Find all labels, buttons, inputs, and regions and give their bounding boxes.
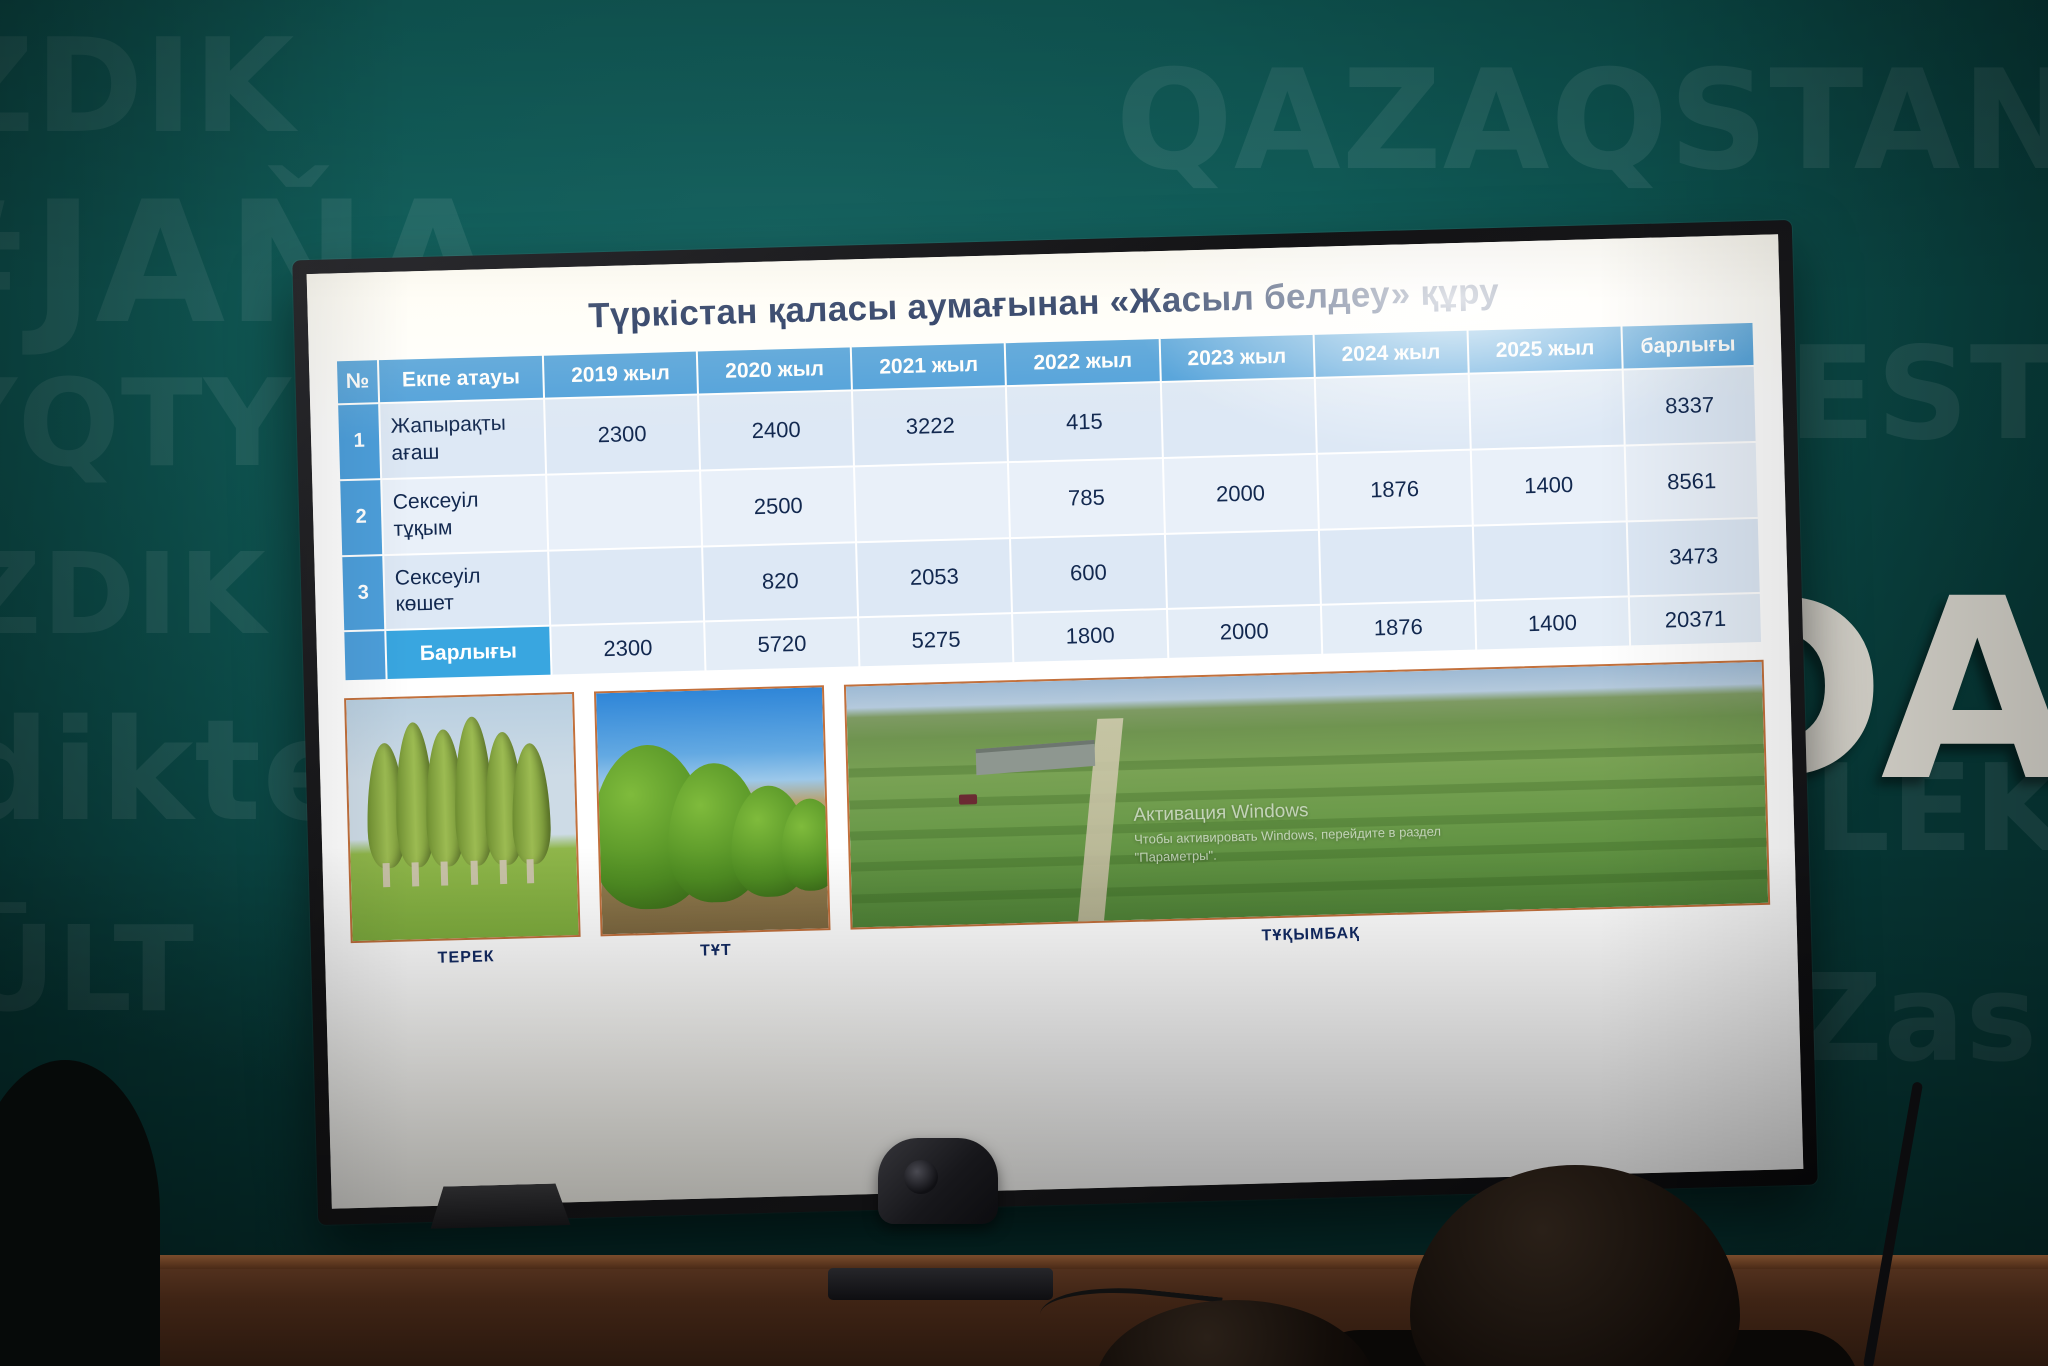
- cell-2022: 415: [1006, 382, 1162, 462]
- column-header-2021: 2021 жыл: [851, 342, 1006, 390]
- cell-2022: 600: [1010, 533, 1166, 613]
- photo-frame: Активация Windows Чтобы активировать Win…: [844, 660, 1770, 930]
- total-2024: 1876: [1321, 601, 1476, 655]
- column-header-2022: 2022 жыл: [1005, 338, 1160, 386]
- backdrop-word: ŪLT: [0, 900, 195, 1038]
- backdrop-word: ZDIK: [0, 10, 295, 162]
- total-row-label: Барлығы: [385, 626, 551, 680]
- total-2025: 1400: [1475, 597, 1630, 651]
- cell-2019: [546, 470, 702, 550]
- column-header-2023: 2023 жыл: [1159, 334, 1314, 382]
- table-edge: [0, 1255, 2048, 1269]
- column-header-no: №: [336, 359, 379, 404]
- tv-screen: Түркістан қаласы аумағынан «Жасыл белдеу…: [307, 234, 1804, 1208]
- cell-total: 3473: [1627, 517, 1761, 596]
- photo-cell-tut: ТҰТ: [594, 685, 831, 963]
- cell-2021: 2053: [856, 538, 1012, 618]
- cell-2023: 2000: [1162, 454, 1318, 534]
- row-index: 3: [341, 555, 385, 632]
- grand-total: 20371: [1629, 593, 1762, 647]
- total-2022: 1800: [1012, 609, 1167, 663]
- camera-base: [828, 1268, 1053, 1300]
- column-header-2025: 2025 жыл: [1467, 326, 1622, 374]
- cell-2021: [854, 462, 1010, 542]
- photo-cell-tuqymbaq: Активация Windows Чтобы активировать Win…: [844, 660, 1771, 957]
- total-2020: 5720: [704, 618, 859, 672]
- total-2023: 2000: [1167, 605, 1322, 659]
- backdrop-word: QAZAQSTAN: [1116, 40, 2048, 201]
- row-name: Сексеуіл тұқым: [381, 474, 548, 554]
- photo-caption: ТҰҚЫМБАҚ: [1261, 925, 1360, 946]
- cell-2023: [1164, 529, 1320, 609]
- photo-strip: ТЕРЕК ТҰТ: [344, 660, 1777, 1200]
- row-name: Сексеуіл көшет: [383, 550, 550, 630]
- table-body: 1 Жапырақты ағаш 2300 2400 3222 415 8337: [337, 366, 1762, 682]
- row-name: Жапырақты ағаш: [379, 399, 546, 479]
- cell-2024: [1319, 525, 1475, 605]
- total-row-index: [343, 630, 386, 681]
- column-header-2024: 2024 жыл: [1313, 330, 1468, 378]
- cell-2025: [1469, 370, 1625, 450]
- column-header-2019: 2019 жыл: [543, 351, 698, 399]
- television-display: Түркістан қаласы аумағынан «Жасыл белдеу…: [292, 220, 1818, 1225]
- backdrop-word: ZDIK: [0, 530, 267, 660]
- cell-2024: 1876: [1317, 449, 1473, 529]
- photo-caption: ТҰТ: [700, 942, 732, 961]
- column-header-total: барлығы: [1621, 322, 1754, 370]
- cell-2020: 2400: [698, 390, 854, 470]
- aerial-nursery-field-photo: Активация Windows Чтобы активировать Win…: [846, 662, 1768, 928]
- backdrop-word: EST: [1788, 320, 2048, 469]
- cell-2025: [1473, 521, 1629, 601]
- field-vehicle: [959, 794, 977, 804]
- cell-2020: 820: [702, 542, 858, 622]
- conference-camera: [878, 1138, 998, 1224]
- backdrop-word: Zas: [1796, 950, 2038, 1089]
- planting-data-table: № Екпе атауы 2019 жыл 2020 жыл 2021 жыл …: [335, 321, 1763, 683]
- column-header-name: Екпе атауы: [378, 355, 544, 403]
- photo-cell-terek: ТЕРЕК: [344, 692, 581, 970]
- cell-2021: 3222: [852, 386, 1008, 466]
- poplar-windbreak-photo: [346, 694, 578, 941]
- cell-2024: [1314, 374, 1470, 454]
- total-2021: 5275: [858, 613, 1013, 667]
- mulberry-sapling-photo: [596, 688, 828, 935]
- column-header-2020: 2020 жыл: [697, 346, 852, 394]
- total-2019: 2300: [550, 622, 705, 676]
- cell-2022: 785: [1008, 458, 1164, 538]
- cell-total: 8337: [1623, 366, 1757, 445]
- cell-2019: 2300: [544, 395, 700, 475]
- tv-stand-foot: [429, 1183, 570, 1229]
- cell-total: 8561: [1625, 442, 1759, 521]
- row-index: 2: [339, 479, 383, 556]
- cell-2025: 1400: [1471, 445, 1627, 525]
- cell-2020: 2500: [700, 466, 856, 546]
- presentation-slide: Түркістан қаласы аумағынан «Жасыл белдеу…: [307, 234, 1804, 1208]
- photo-frame: [344, 692, 581, 943]
- tv-bezel: Түркістан қаласы аумағынан «Жасыл белдеу…: [292, 220, 1818, 1225]
- cell-2023: [1160, 378, 1316, 458]
- photo-caption: ТЕРЕК: [437, 948, 495, 968]
- row-index: 1: [337, 403, 381, 480]
- photo-frame: [594, 685, 831, 936]
- cell-2019: [548, 546, 704, 626]
